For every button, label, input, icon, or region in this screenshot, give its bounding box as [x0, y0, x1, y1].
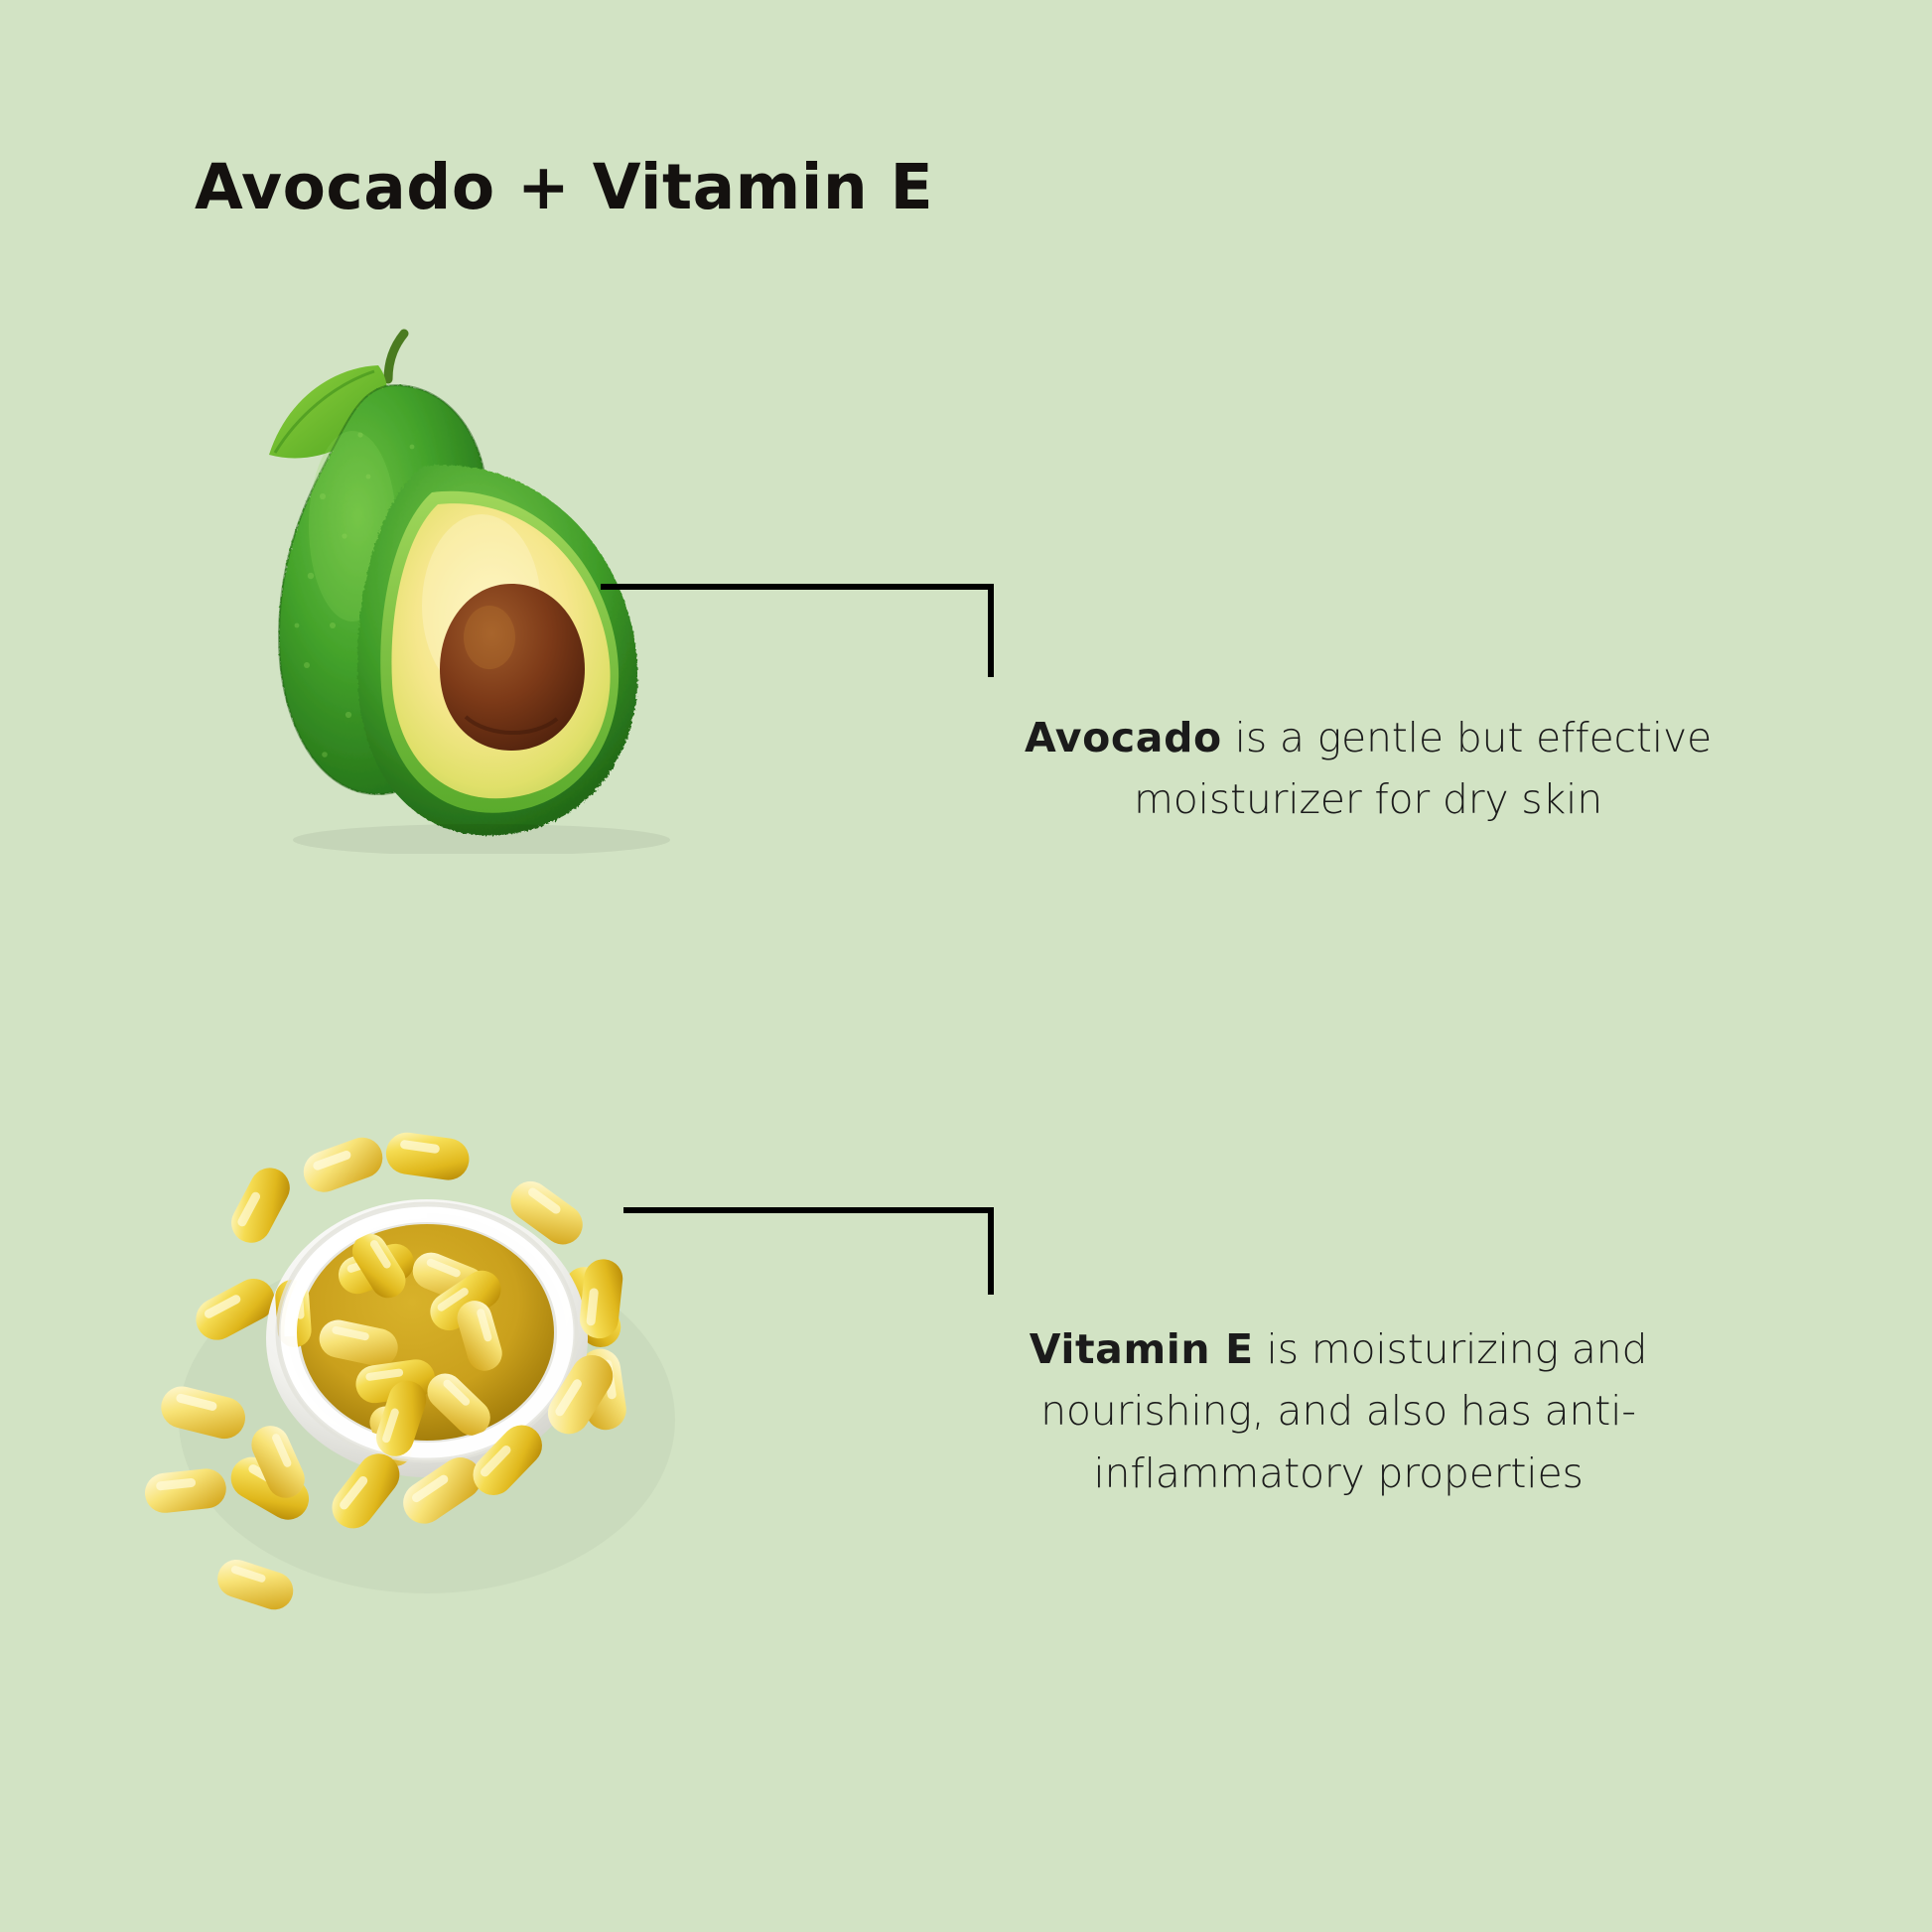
vitamin-e-lead-label: Vitamin E	[1030, 1325, 1254, 1373]
vitamin-e-capsules-image	[129, 1122, 745, 1618]
vitamin-e-description: Vitamin E is moisturizing and nourishing…	[991, 1318, 1686, 1504]
avocado-stem-icon	[388, 334, 404, 379]
bowl-icon	[266, 1199, 588, 1477]
connector-horizontal-segment	[601, 584, 994, 590]
connector-vertical-segment	[988, 584, 994, 677]
connector-vertical-segment	[988, 1207, 994, 1295]
avocado-description: Avocado is a gentle but effective moistu…	[991, 707, 1745, 831]
page-title: Avocado + Vitamin E	[195, 151, 933, 223]
infographic-canvas: Avocado + Vitamin E	[0, 0, 1932, 1932]
avocado-half-icon	[357, 465, 637, 835]
connector-horizontal-segment	[623, 1207, 994, 1213]
avocado-image	[184, 328, 839, 854]
avocado-lead-label: Avocado	[1025, 714, 1222, 761]
